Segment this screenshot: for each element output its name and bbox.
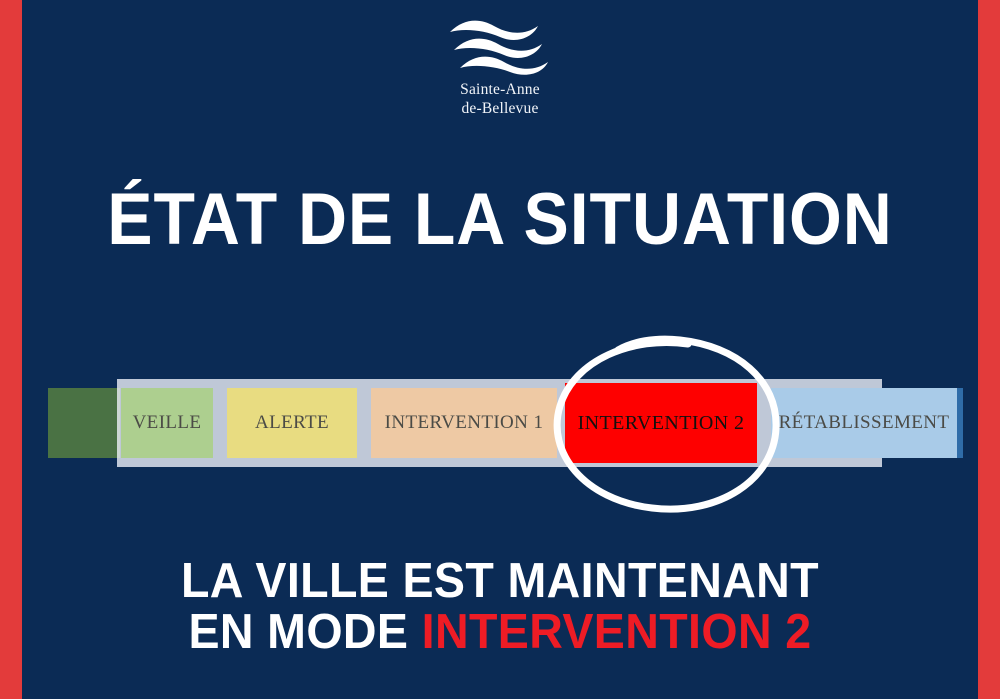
page-title: ÉTAT DE LA SITUATION	[35, 183, 965, 256]
logo-line-1: Sainte-Anne	[460, 80, 540, 99]
headline: LA VILLE EST MAINTENANT EN MODE INTERVEN…	[25, 556, 975, 658]
headline-line-2: EN MODE INTERVENTION 2	[25, 607, 975, 658]
headline-highlight: INTERVENTION 2	[422, 605, 812, 659]
logo-wordmark: Sainte-Anne de-Bellevue	[460, 80, 540, 118]
right-red-border	[978, 0, 1000, 699]
headline-line-1: LA VILLE EST MAINTENANT	[25, 556, 975, 607]
left-red-border	[0, 0, 22, 699]
headline-line-2-prefix: EN MODE	[188, 605, 421, 659]
city-logo: Sainte-Anne de-Bellevue	[0, 16, 1000, 118]
logo-line-2: de-Bellevue	[460, 99, 540, 118]
wave-lines-icon	[444, 16, 556, 78]
poster-canvas: Sainte-Anne de-Bellevue ÉTAT DE LA SITUA…	[0, 0, 1000, 699]
